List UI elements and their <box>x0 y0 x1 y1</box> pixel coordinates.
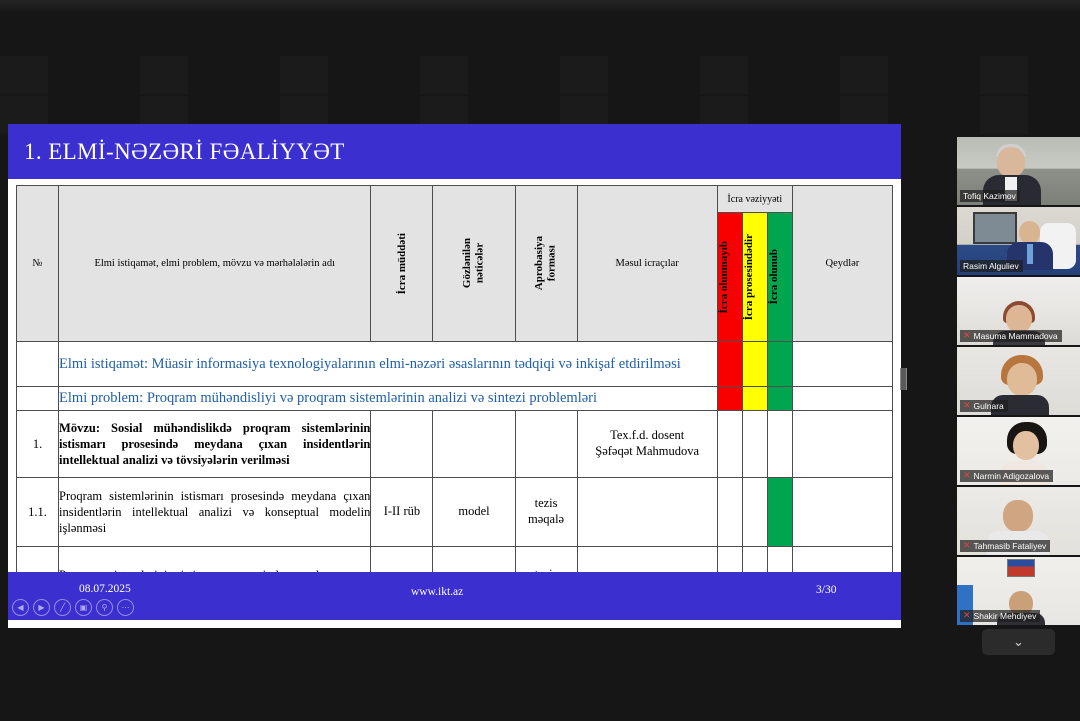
legend-in-progress: İcra prosesindədir <box>742 213 767 342</box>
pen-tool-button[interactable]: ╱ <box>54 599 71 616</box>
section-notes-cell <box>792 387 892 411</box>
row-status-done <box>767 411 792 478</box>
participant-nameplate: Tofiq Kazimov <box>960 190 1020 202</box>
row-name: Mövzu: Sosial mühəndislikdə proqram sist… <box>59 411 371 478</box>
row-status-not-done <box>717 411 742 478</box>
table-section-row: Elmi istiqamət: Müasir informasiya texno… <box>17 342 893 387</box>
participant-nameplate: ✕ Gulnara <box>960 400 1008 412</box>
row-notes <box>792 478 892 547</box>
section-status-red <box>717 387 742 411</box>
work-plan-table: № Elmi istiqamət, elmi problem, mövzu və… <box>16 185 893 620</box>
scroll-down-button[interactable]: ⌄ <box>982 629 1055 655</box>
row-responsible: Tex.f.d. dosent Şəfəqət Mahmudova <box>577 411 717 478</box>
zoom-button[interactable]: ⚲ <box>96 599 113 616</box>
legend-not-done: İcra olunmayıb <box>717 213 742 342</box>
table-row: 1.1. Proqram sistemlərinin istismarı pro… <box>17 478 893 547</box>
row-approbation: tezis məqalə <box>515 478 577 547</box>
header-expected-line2: nəticələr <box>474 243 486 283</box>
table-header-row: № Elmi istiqamət, elmi problem, mövzu və… <box>17 186 893 213</box>
header-status-group: İcra vəziyyəti <box>717 186 792 213</box>
chevron-down-icon: ⌄ <box>1013 635 1024 650</box>
participant-tile[interactable]: Rasim Alguliev <box>957 207 1080 275</box>
ceiling-light-glow <box>0 0 1080 14</box>
participant-name: Masuma Mammadova <box>974 331 1058 341</box>
footer-page-number: 3/30 <box>816 584 836 596</box>
footer-url: www.ikt.az <box>411 586 463 598</box>
participant-name: Shakir Mehdiyev <box>974 611 1037 621</box>
row-status-not-done <box>717 478 742 547</box>
participant-nameplate: ✕ Masuma Mammadova <box>960 330 1062 342</box>
row-expected <box>433 411 515 478</box>
row-name: Proqram sistemlərinin istismarı prosesin… <box>59 478 371 547</box>
header-deadline: İcra müddəti <box>371 186 433 342</box>
header-approbation-line1: Aprobasiya <box>533 236 545 290</box>
participant-nameplate: ✕ Narmin Adigozalova <box>960 470 1053 482</box>
section-scientific-direction: Elmi istiqamət: Müasir informasiya texno… <box>59 342 718 387</box>
section-status-yellow <box>742 342 767 387</box>
row-status-in-progress <box>742 411 767 478</box>
participant-name: Tofiq Kazimov <box>963 191 1016 201</box>
more-options-button[interactable]: ⋯ <box>117 599 134 616</box>
video-participant-rail[interactable]: Tofiq Kazimov Rasim Alguliev ✕ Masuma Ma… <box>957 137 1080 655</box>
participant-tile[interactable]: Tofiq Kazimov <box>957 137 1080 205</box>
participant-name: Tahmasib Fataliyev <box>974 541 1047 551</box>
participant-name: Gulnara <box>974 401 1004 411</box>
footer-date: 08.07.2025 <box>79 583 131 595</box>
row-deadline <box>371 411 433 478</box>
header-notes: Qeydlər <box>792 186 892 342</box>
table-section-row: Elmi problem: Proqram mühəndisliyi və pr… <box>17 387 893 411</box>
participant-tile[interactable]: ✕ Narmin Adigozalova <box>957 417 1080 485</box>
section-row-no-cell <box>17 342 59 387</box>
header-approbation-line2: forması <box>546 245 558 281</box>
participant-nameplate: ✕ Shakir Mehdiyev <box>960 610 1040 622</box>
row-deadline: I-II rüb <box>371 478 433 547</box>
row-responsible <box>577 478 717 547</box>
participant-nameplate: Rasim Alguliev <box>960 260 1023 272</box>
row-number: 1.1. <box>17 478 59 547</box>
presentation-slide[interactable]: 1. ELMİ-NƏZƏRİ FƏALİYYƏT № Elmi istiqamə… <box>8 124 901 628</box>
section-status-red <box>717 342 742 387</box>
slide-title-bar: 1. ELMİ-NƏZƏRİ FƏALİYYƏT <box>8 124 901 179</box>
header-approbation: Aprobasiya forması <box>515 186 577 342</box>
participant-name: Narmin Adigozalova <box>974 471 1050 481</box>
mic-off-icon: ✕ <box>963 541 971 551</box>
section-row-no-cell <box>17 387 59 411</box>
header-approbation-label: Aprobasiya forması <box>533 236 558 290</box>
row-expected: model <box>433 478 515 547</box>
header-expected-results-label: Gözlənilən nəticələr <box>461 238 486 288</box>
page-title: 1. ELMİ-NƏZƏRİ FƏALİYYƏT <box>8 139 345 165</box>
section-status-green <box>767 342 792 387</box>
mic-off-icon: ✕ <box>963 401 971 411</box>
participant-name: Rasim Alguliev <box>963 261 1019 271</box>
mic-off-icon: ✕ <box>963 331 971 341</box>
legend-in-progress-label: İcra prosesindədir <box>743 234 755 320</box>
slide-footer: 08.07.2025 www.ikt.az 3/30 ◀ ▶ ╱ ▣ ⚲ ⋯ <box>8 572 901 620</box>
table-row: 1. Mövzu: Sosial mühəndislikdə proqram s… <box>17 411 893 478</box>
mic-off-icon: ✕ <box>963 471 971 481</box>
row-status-done <box>767 478 792 547</box>
next-slide-button[interactable]: ▶ <box>33 599 50 616</box>
participant-tile[interactable]: ✕ Tahmasib Fataliyev <box>957 487 1080 555</box>
section-status-yellow <box>742 387 767 411</box>
section-scientific-problem: Elmi problem: Proqram mühəndisliyi və pr… <box>59 387 718 411</box>
presentation-controls[interactable]: ◀ ▶ ╱ ▣ ⚲ ⋯ <box>12 599 134 616</box>
slide-content: № Elmi istiqamət, elmi problem, mövzu və… <box>8 179 901 572</box>
header-deadline-label: İcra müddəti <box>396 233 408 294</box>
header-expected-results: Gözlənilən nəticələr <box>433 186 515 342</box>
row-notes <box>792 411 892 478</box>
seat-row <box>0 56 1080 94</box>
section-status-green <box>767 387 792 411</box>
legend-done: İcra olunub <box>767 213 792 342</box>
header-expected-line1: Gözlənilən <box>461 238 473 288</box>
row-status-in-progress <box>742 478 767 547</box>
prev-slide-button[interactable]: ◀ <box>12 599 29 616</box>
row-number: 1. <box>17 411 59 478</box>
participant-tile[interactable]: ✕ Masuma Mammadova <box>957 277 1080 345</box>
slide-menu-button[interactable]: ▣ <box>75 599 92 616</box>
participant-tile[interactable]: ✕ Shakir Mehdiyev <box>957 557 1080 625</box>
section-notes-cell <box>792 342 892 387</box>
slide-resize-handle[interactable] <box>900 368 907 390</box>
row-approbation <box>515 411 577 478</box>
legend-done-label: İcra olunub <box>768 249 780 304</box>
legend-not-done-label: İcra olunmayıb <box>718 241 730 313</box>
header-no: № <box>17 186 59 342</box>
header-name: Elmi istiqamət, elmi problem, mövzu və m… <box>59 186 371 342</box>
participant-nameplate: ✕ Tahmasib Fataliyev <box>960 540 1050 552</box>
header-responsible: Məsul icraçılar <box>577 186 717 342</box>
mic-off-icon: ✕ <box>963 611 971 621</box>
participant-tile[interactable]: ✕ Gulnara <box>957 347 1080 415</box>
